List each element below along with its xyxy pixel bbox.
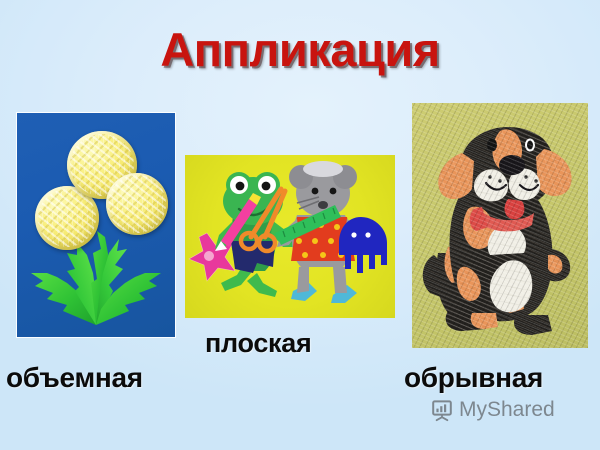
myshared-watermark-text: MyShared <box>459 398 555 422</box>
applique-figures <box>185 155 395 318</box>
presentation-board-icon <box>430 398 454 422</box>
photo-flat-applique <box>185 155 395 318</box>
torn-paper-dog <box>412 103 588 348</box>
slide-canvas: Аппликация <box>0 0 600 450</box>
photo-torn-paper-dog <box>412 103 588 348</box>
caption-flat: плоская <box>205 328 311 359</box>
octopus-figure <box>339 217 387 273</box>
page-title: Аппликация <box>0 22 600 77</box>
caption-torn: обрывная <box>404 362 543 394</box>
dandelion-head <box>106 173 168 235</box>
caption-volumetric: объемная <box>6 362 143 394</box>
photo-volumetric-dandelions <box>17 113 175 337</box>
myshared-watermark: MyShared <box>430 398 555 422</box>
